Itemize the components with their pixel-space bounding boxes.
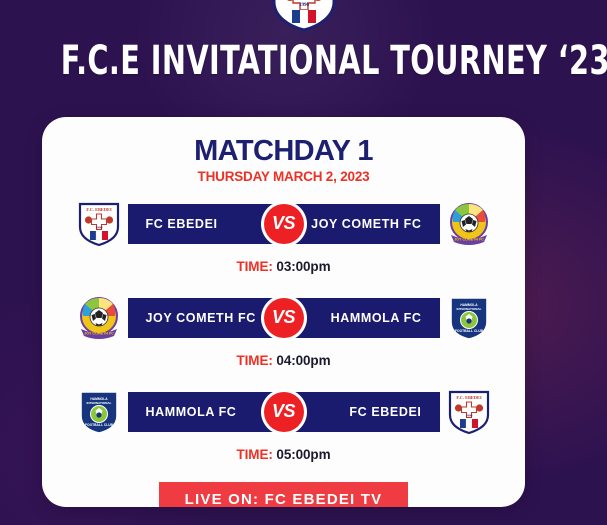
away-team-name: FC EBEDEI [284,405,440,419]
vs-badge: VS [261,295,307,341]
hammola-crest: HAMMOLA INTERNATIONAL FOOTBALL CLUB [76,389,122,435]
svg-text:JOY COMETH FC: JOY COMETH FC [84,331,114,335]
hammola-crest: HAMMOLA INTERNATIONAL FOOTBALL CLUB [446,295,492,341]
live-banner-wrap: LIVE ON: FC EBEDEI TV [42,482,525,508]
fixture-row: JOY COMETH FC JOY COMETH FC HAMMOLA FC V… [42,290,525,384]
fixture-matchup: HAMMOLA INTERNATIONAL FOOTBALL CLUB HAMM… [42,384,525,440]
away-team-name: HAMMOLA FC [284,311,440,325]
away-team-name: JOY COMETH FC [284,217,440,231]
fixture-matchup: F.C. EBEDEI 1996 FC EBEDEI JOY COMETH FC… [42,196,525,252]
svg-text:INTERNATIONAL: INTERNATIONAL [456,307,481,311]
time-value: 04:00pm [276,353,330,368]
fixture-time: TIME: 04:00pm [42,353,525,368]
fc-ebedei-crest-header: F.C. EBEDEI 1996 [270,0,338,32]
time-value: 05:00pm [276,447,330,462]
vs-badge: VS [261,201,307,247]
matchday-heading: MATCHDAY 1 [42,137,525,166]
fixture-bar: JOY COMETH FC HAMMOLA FC VS [128,298,440,338]
fixture-bar: HAMMOLA FC FC EBEDEI VS [128,392,440,432]
fixture-bar: FC EBEDEI JOY COMETH FC VS [128,204,440,244]
vs-label: VS [264,392,304,432]
time-label: TIME: [237,447,273,462]
vs-label: VS [264,298,304,338]
svg-text:INTERNATIONAL: INTERNATIONAL [86,401,111,405]
vs-badge: VS [261,389,307,435]
svg-text:FOOTBALL CLUB: FOOTBALL CLUB [85,423,114,427]
vs-label: VS [264,204,304,244]
svg-text:1996: 1996 [465,413,472,417]
fc-ebedei-crest: F.C. EBEDEI 1996 [76,201,122,247]
page-title: F.C.E INVITATIONAL TOURNEY ‘23 [61,40,547,82]
svg-text:F.C. EBEDEI: F.C. EBEDEI [456,395,482,400]
time-value: 03:00pm [276,259,330,274]
joy-cometh-crest: JOY COMETH FC [76,295,122,341]
svg-text:1996: 1996 [299,3,310,8]
svg-text:1996: 1996 [95,225,102,229]
fixture-matchup: JOY COMETH FC JOY COMETH FC HAMMOLA FC V… [42,290,525,346]
matchday-card: MATCHDAY 1 THURSDAY MARCH 2, 2023 F.C. E… [42,117,525,507]
svg-text:F.C. EBEDEI: F.C. EBEDEI [86,207,112,212]
card-header: MATCHDAY 1 THURSDAY MARCH 2, 2023 [42,117,525,184]
time-label: TIME: [237,353,273,368]
svg-text:JOY COMETH FC: JOY COMETH FC [454,237,484,241]
live-banner: LIVE ON: FC EBEDEI TV [159,482,409,508]
fixture-time: TIME: 03:00pm [42,259,525,274]
fixture-row: F.C. EBEDEI 1996 FC EBEDEI JOY COMETH FC… [42,196,525,290]
fixture-time: TIME: 05:00pm [42,447,525,462]
svg-text:FOOTBALL CLUB: FOOTBALL CLUB [455,329,484,333]
fixture-list: F.C. EBEDEI 1996 FC EBEDEI JOY COMETH FC… [42,196,525,478]
time-label: TIME: [237,259,273,274]
fc-ebedei-crest: F.C. EBEDEI 1996 [446,389,492,435]
joy-cometh-crest: JOY COMETH FC [446,201,492,247]
matchday-date: THURSDAY MARCH 2, 2023 [42,170,525,184]
fixture-row: HAMMOLA INTERNATIONAL FOOTBALL CLUB HAMM… [42,384,525,478]
